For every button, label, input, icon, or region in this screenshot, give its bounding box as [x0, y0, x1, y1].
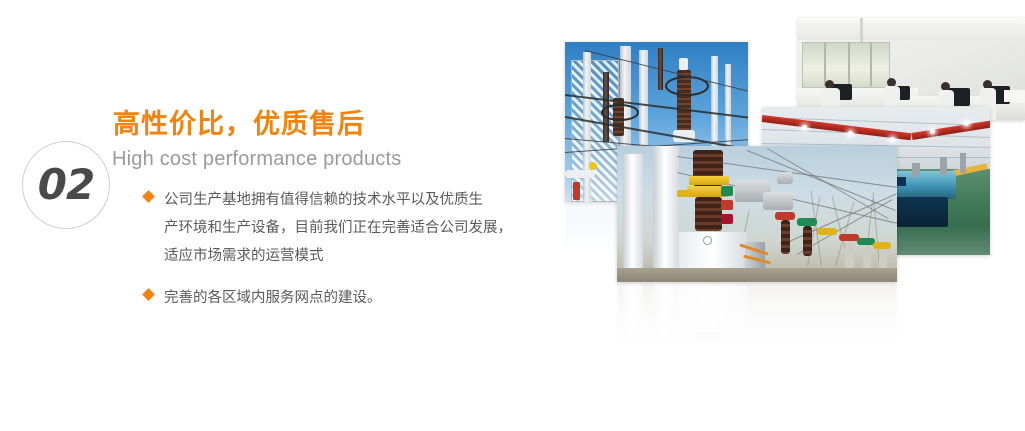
step-number: 02	[38, 164, 94, 206]
bullet-line: 适应市场需求的运营模式	[164, 242, 544, 270]
photo-factory-reflection	[900, 255, 990, 297]
promo-banner: 02 高性价比，优质售后 High cost performance produ…	[0, 0, 1025, 431]
headline-english: High cost performance products	[112, 148, 401, 171]
list-item: 完善的各区域内服务网点的建设。	[144, 284, 544, 312]
office-ceiling	[798, 18, 1025, 40]
photo-circuit-breaker-closeup	[617, 146, 897, 282]
bullet-line: 产环境和生产设备，目前我们正在完善适合公司发展，	[164, 214, 544, 242]
list-item: 公司生产基地拥有值得信赖的技术水平以及优质生 产环境和生产设备，目前我们正在完善…	[144, 186, 544, 270]
diamond-bullet-icon	[142, 288, 155, 301]
headline-chinese: 高性价比，优质售后	[113, 110, 365, 140]
photo-office-workstations	[798, 18, 1025, 120]
bullet-list: 公司生产基地拥有值得信赖的技术水平以及优质生 产环境和生产设备，目前我们正在完善…	[144, 186, 544, 326]
photo-office-content	[798, 18, 1025, 120]
photo-breaker-reflection	[617, 282, 897, 342]
photo-breaker-content	[617, 146, 897, 282]
bullet-line: 公司生产基地拥有值得信赖的技术水平以及优质生	[164, 186, 544, 214]
diamond-bullet-icon	[142, 190, 155, 203]
bullet-line: 完善的各区域内服务网点的建设。	[164, 284, 544, 312]
step-number-badge: 02	[22, 141, 110, 229]
